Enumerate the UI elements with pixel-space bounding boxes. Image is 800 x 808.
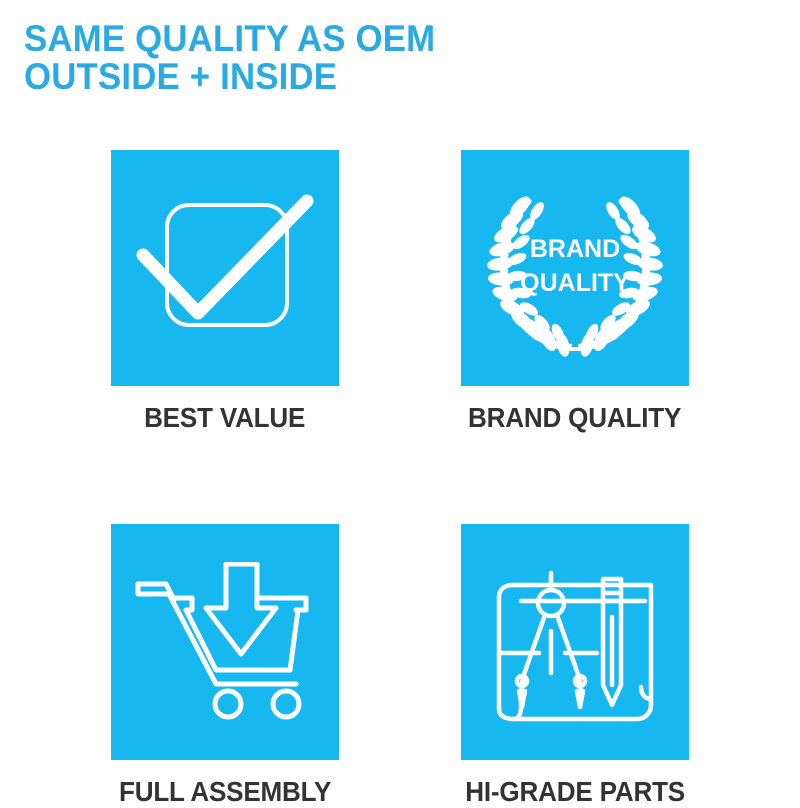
feature-row-top: BEST VALUE bbox=[0, 150, 800, 434]
feature-card-best-value: BEST VALUE bbox=[110, 150, 340, 434]
feature-tile-hi-grade-parts bbox=[461, 524, 689, 760]
shopping-cart-download-icon bbox=[130, 562, 320, 722]
feature-label-best-value: BEST VALUE bbox=[144, 402, 305, 434]
laurel-wreath-icon: BRAND QUALITY bbox=[475, 173, 675, 363]
feature-label-brand-quality: BRAND QUALITY bbox=[468, 402, 681, 434]
feature-label-hi-grade-parts: HI-GRADE PARTS bbox=[465, 776, 685, 808]
headline-line-2: OUTSIDE + INSIDE bbox=[24, 58, 720, 96]
feature-row-bottom: FULL ASSEMBLY bbox=[0, 524, 800, 808]
feature-label-full-assembly: FULL ASSEMBLY bbox=[119, 776, 331, 808]
blueprint-compass-pencil-icon bbox=[485, 557, 665, 727]
wreath-badge-line-1: BRAND bbox=[530, 235, 620, 263]
checkbox-check-icon bbox=[135, 183, 315, 353]
page-headline: SAME QUALITY AS OEM OUTSIDE + INSIDE bbox=[24, 20, 764, 96]
wreath-badge-line-2: QUALITY bbox=[520, 269, 630, 297]
feature-card-brand-quality: BRAND QUALITY BRAND QUALITY bbox=[460, 150, 690, 434]
feature-card-hi-grade-parts: HI-GRADE PARTS bbox=[460, 524, 690, 808]
feature-grid: BEST VALUE bbox=[0, 150, 800, 808]
feature-tile-full-assembly bbox=[111, 524, 339, 760]
feature-card-full-assembly: FULL ASSEMBLY bbox=[110, 524, 340, 808]
feature-tile-brand-quality: BRAND QUALITY bbox=[461, 150, 689, 386]
headline-line-1: SAME QUALITY AS OEM bbox=[24, 20, 720, 58]
feature-tile-best-value bbox=[111, 150, 339, 386]
